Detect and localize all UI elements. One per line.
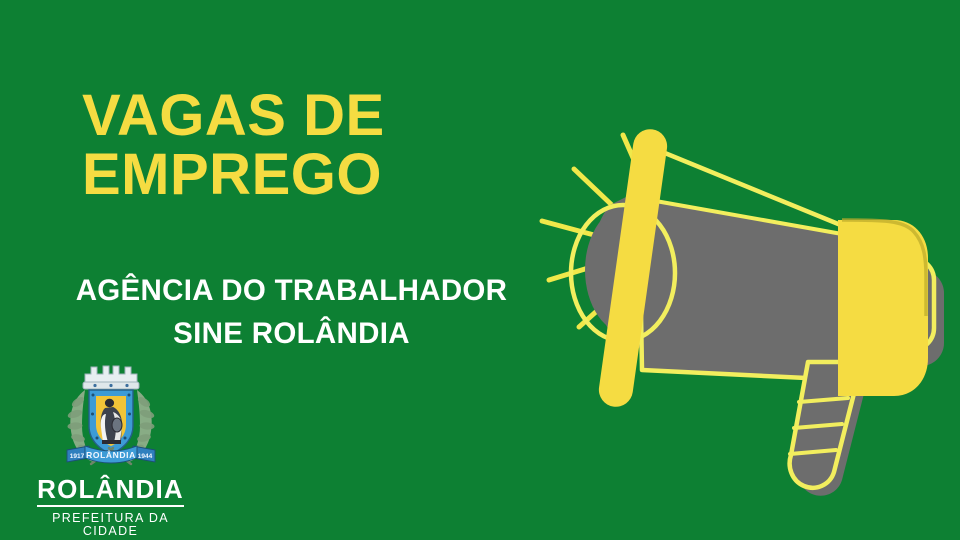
megaphone-cone-body [640, 198, 840, 380]
subtitle-line-2: SINE ROLÂNDIA [24, 313, 559, 356]
svg-text:ROLÂNDIA: ROLÂNDIA [86, 449, 136, 460]
poster-canvas: VAGAS DE EMPREGO AGÊNCIA DO TRABALHADOR … [0, 0, 960, 540]
svg-text:1917: 1917 [69, 453, 84, 460]
logo-tagline: PREFEITURA DA CIDADE [28, 512, 193, 537]
svg-text:1944: 1944 [137, 453, 152, 460]
megaphone-housing [838, 220, 928, 396]
page-title: VAGAS DE EMPREGO [82, 86, 512, 204]
rolandia-coat-of-arms-icon: ROLÂNDIA 1917 1944 [51, 362, 171, 474]
crown-shape [83, 366, 139, 389]
logo-city-name-wrap: ROLÂNDIA [28, 474, 193, 507]
subtitle-line-1: AGÊNCIA DO TRABALHADOR [76, 274, 508, 307]
logo-city-name: ROLÂNDIA [37, 476, 184, 507]
city-logo: ROLÂNDIA 1917 1944 ROLÂNDIA PREFEITURA D… [28, 362, 193, 537]
megaphone-icon [490, 80, 960, 500]
subtitle-block: AGÊNCIA DO TRABALHADOR SINE ROLÂNDIA [24, 270, 559, 356]
